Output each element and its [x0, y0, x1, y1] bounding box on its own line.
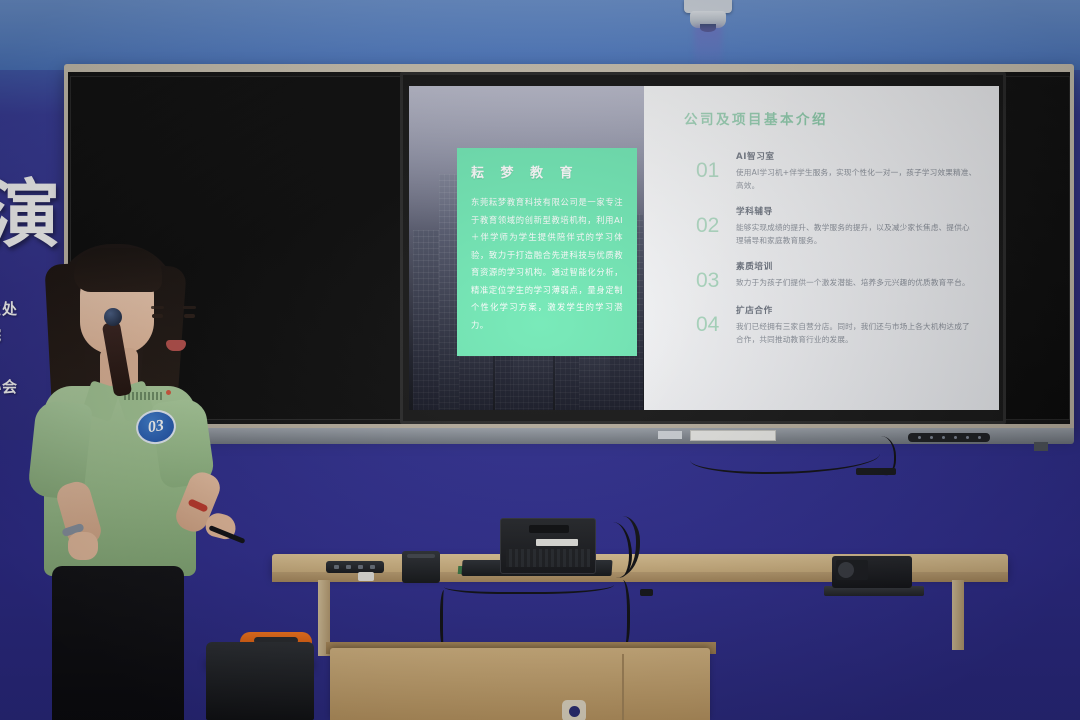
slide-item-description: 能够实现成绩的提升、教学服务的提升，以及减少家长焦虑、提供心理辅导和家庭教育服务… [736, 221, 977, 247]
slide-item-description: 致力于为孩子们提供一个激发潜能、培养多元兴趣的优质教育平台。 [736, 276, 977, 289]
presentation-scene: 演 创业处 学院 站 业协会 耘 梦 教 育 东莞耘梦教育科技有限公司是一家专注… [0, 0, 1080, 720]
badge-number: 03 [147, 417, 165, 437]
projector-vent [506, 549, 590, 567]
shirt-logo [124, 392, 164, 400]
microphone-icon[interactable] [104, 308, 122, 326]
cabinet-divider [622, 654, 624, 720]
slide-title: 公司及项目基本介绍 [670, 108, 977, 128]
cable-along-desk [444, 574, 614, 594]
company-intro-card: 耘 梦 教 育 东莞耘梦教育科技有限公司是一家专注于教育领域的创新型教培机构，利… [457, 148, 637, 356]
company-intro-heading: 耘 梦 教 育 [471, 162, 623, 181]
banner-line-4: 业协会 [0, 374, 18, 400]
presenter-hand-left [68, 532, 98, 560]
presenter-fringe [74, 248, 162, 292]
usb-drive-icon[interactable] [358, 572, 374, 581]
presenter-pants [52, 566, 184, 720]
cable-drop-left [440, 590, 450, 650]
second-projector-lens-icon [838, 562, 854, 578]
slide-item-02: 02 学科辅导 能够实现成绩的提升、教学服务的提升，以及减少家长焦虑、提供心理辅… [670, 205, 977, 247]
slide-content-area: 公司及项目基本介绍 01 AI智习室 使用AI学习机+伴学生服务，实现个性化一对… [644, 86, 999, 410]
presentation-slide[interactable]: 耘 梦 教 育 东莞耘梦教育科技有限公司是一家专注于教育领域的创新型教培机构，利… [409, 86, 999, 410]
slide-item-number: 04 [696, 304, 726, 346]
banner-line-1: 创业处 [0, 296, 18, 322]
banner-text-block: 创业处 学院 站 业协会 [0, 296, 18, 400]
dongle-icon[interactable] [640, 589, 653, 596]
projector-label [536, 539, 578, 546]
slide-item-03: 03 素质培训 致力于为孩子们提供一个激发潜能、培养多元兴趣的优质教育平台。 [670, 260, 977, 291]
desk-leg-right [952, 580, 964, 650]
banner-line-3: 站 [0, 348, 18, 374]
board-foot-right [1034, 442, 1048, 451]
slide-item-heading: 素质培训 [736, 260, 977, 272]
slide-item-01: 01 AI智习室 使用AI学习机+伴学生服务，实现个性化一对一，孩子学习效果精准… [670, 150, 977, 192]
board-control-strip[interactable] [908, 433, 990, 442]
wall-upper-band [0, 0, 1080, 70]
slide-item-heading: 扩店合作 [736, 304, 977, 316]
banner-line-2: 学院 [0, 322, 18, 348]
rail-small-sticker [658, 431, 682, 439]
slide-item-04: 04 扩店合作 我们已经拥有三家自营分店。同时，我们还与市场上各大机构达成了合作… [670, 304, 977, 346]
company-intro-body: 东莞耘梦教育科技有限公司是一家专注于教育领域的创新型教培机构，利用AI＋伴学师为… [471, 194, 623, 334]
presenter: 03 [20, 236, 250, 720]
slide-item-number: 01 [696, 150, 726, 192]
slide-item-description: 我们已经拥有三家自营分店。同时，我们还与市场上各大机构达成了合作，共同推动教育行… [736, 320, 977, 346]
slide-item-number: 03 [696, 260, 726, 291]
cable-drop-right [614, 580, 630, 650]
slide-photo-cityscape: 耘 梦 教 育 东莞耘梦教育科技有限公司是一家专注于教育领域的创新型教培机构，利… [409, 86, 644, 410]
speaker-box-icon[interactable] [402, 551, 440, 583]
slide-item-description: 使用AI学习机+伴学生服务，实现个性化一对一，孩子学习效果精准、高效。 [736, 166, 977, 192]
board-cable-plug [856, 468, 896, 475]
remote-control-icon[interactable] [326, 561, 384, 573]
cabinet[interactable] [330, 648, 710, 720]
slide-item-heading: AI智习室 [736, 150, 977, 162]
cabinet-knob-icon[interactable] [562, 700, 586, 720]
slide-item-heading: 学科辅导 [736, 205, 977, 217]
slide-item-number: 02 [696, 205, 726, 247]
blackboard-right-panel [1000, 76, 1070, 420]
shirt-logo-dot [166, 390, 171, 395]
